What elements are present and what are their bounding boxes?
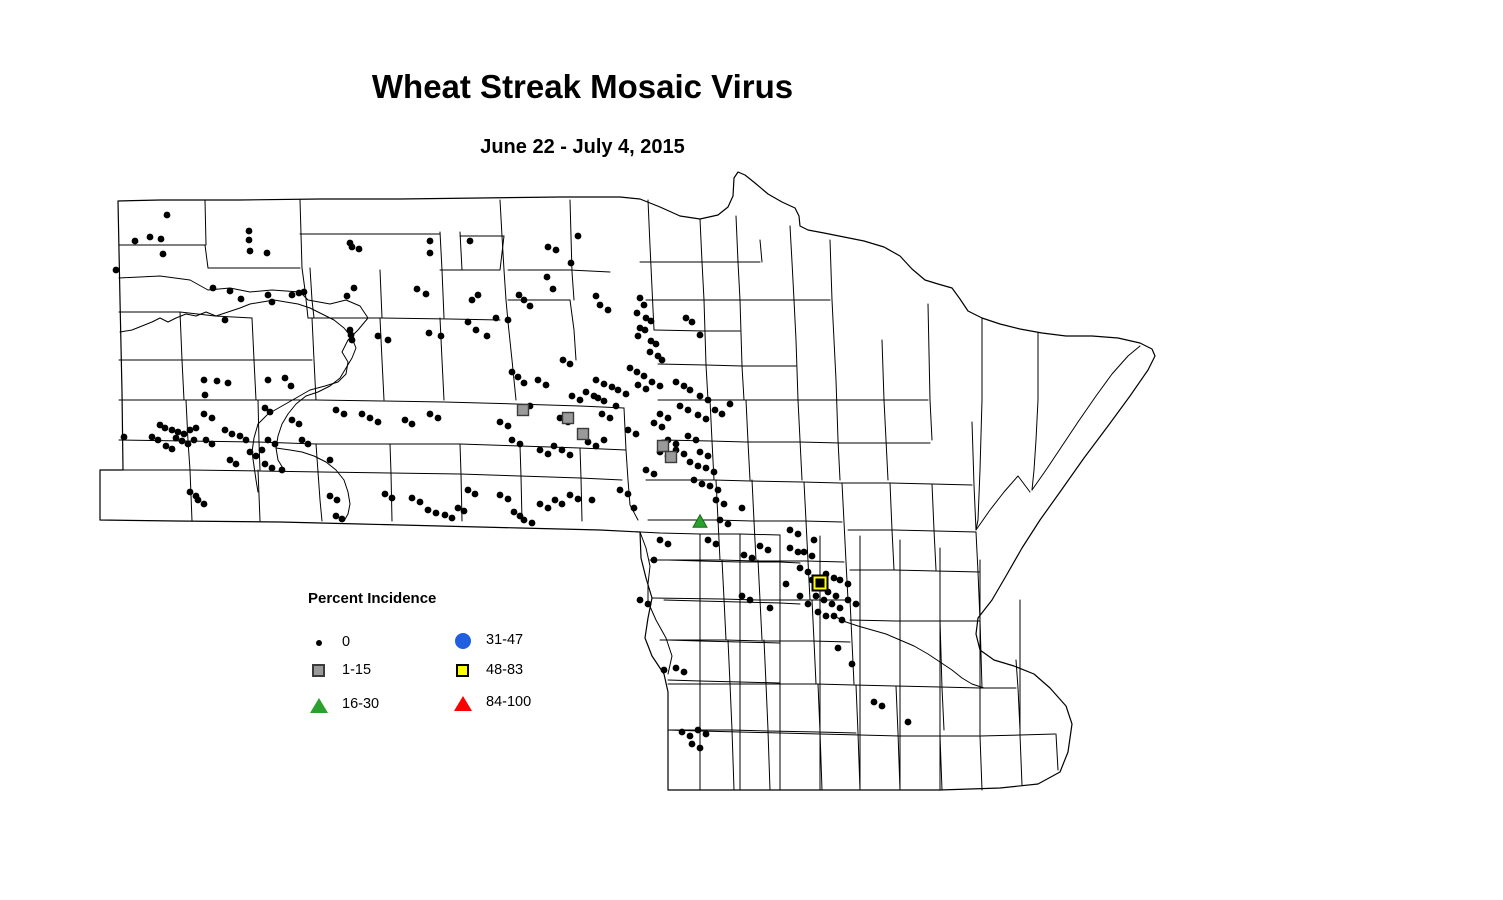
marker-zero <box>593 293 600 300</box>
marker-zero <box>715 487 722 494</box>
marker-zero <box>201 377 208 384</box>
marker-zero <box>757 543 764 550</box>
marker-zero <box>765 547 772 554</box>
marker-zero <box>375 333 382 340</box>
marker-1-15 <box>666 452 677 463</box>
marker-zero <box>472 491 479 498</box>
marker-zero <box>179 438 186 445</box>
legend-gray-square-icon <box>308 660 330 682</box>
marker-zero <box>657 383 664 390</box>
marker-zero <box>435 415 442 422</box>
marker-zero <box>815 609 822 616</box>
marker-zero <box>341 411 348 418</box>
legend-label-0: 0 <box>342 634 350 650</box>
marker-zero <box>265 377 272 384</box>
marker-zero <box>356 246 363 253</box>
marker-zero <box>583 389 590 396</box>
marker-zero <box>497 419 504 426</box>
marker-zero <box>511 509 518 516</box>
marker-zero <box>635 382 642 389</box>
marker-zero <box>591 393 598 400</box>
marker-zero <box>697 393 704 400</box>
marker-zero <box>647 349 654 356</box>
marker-zero <box>749 555 756 562</box>
marker-zero <box>209 441 216 448</box>
county-boundaries <box>100 172 1155 790</box>
marker-zero <box>659 357 666 364</box>
marker-1-15 <box>518 405 529 416</box>
marker-zero <box>253 453 260 460</box>
marker-zero <box>209 415 216 422</box>
marker-zero <box>552 497 559 504</box>
marker-zero <box>173 435 180 442</box>
marker-zero <box>871 699 878 706</box>
marker-zero <box>238 296 245 303</box>
marker-zero <box>269 299 276 306</box>
marker-zero <box>493 315 500 322</box>
marker-1-15 <box>563 413 574 424</box>
marker-zero <box>677 403 684 410</box>
marker-1-15 <box>578 429 589 440</box>
marker-zero <box>247 449 254 456</box>
marker-zero <box>359 411 366 418</box>
marker-zero <box>593 443 600 450</box>
marker-zero <box>265 292 272 299</box>
marker-zero <box>821 597 828 604</box>
marker-zero <box>577 397 584 404</box>
marker-zero <box>651 420 658 427</box>
marker-zero <box>227 457 234 464</box>
marker-zero <box>567 492 574 499</box>
marker-zero <box>633 431 640 438</box>
legend-label-2: 16-30 <box>342 696 379 712</box>
marker-zero <box>747 597 754 604</box>
marker-zero <box>657 411 664 418</box>
marker-zero <box>879 703 886 710</box>
marker-zero <box>465 319 472 326</box>
marker-zero <box>191 437 198 444</box>
marker-zero <box>537 501 544 508</box>
marker-zero <box>795 549 802 556</box>
marker-zero <box>327 457 334 464</box>
marker-zero <box>707 483 714 490</box>
marker-zero <box>537 447 544 454</box>
marker-zero <box>823 613 830 620</box>
marker-zero <box>505 317 512 324</box>
marker-zero <box>597 302 604 309</box>
marker-zero <box>164 212 171 219</box>
marker-zero <box>269 465 276 472</box>
marker-zero <box>767 605 774 612</box>
legend-label-4: 48-83 <box>486 662 523 678</box>
marker-zero <box>409 495 416 502</box>
marker-zero <box>567 452 574 459</box>
marker-zero <box>264 250 271 257</box>
marker-zero <box>853 601 860 608</box>
marker-zero <box>155 437 162 444</box>
marker-zero <box>653 341 660 348</box>
marker-zero <box>797 593 804 600</box>
marker-zero <box>575 233 582 240</box>
marker-zero <box>617 487 624 494</box>
marker-zero <box>553 247 560 254</box>
marker-zero <box>625 427 632 434</box>
marker-zero <box>797 565 804 572</box>
marker-zero <box>805 569 812 576</box>
marker-zero <box>739 505 746 512</box>
marker-zero <box>279 467 286 474</box>
marker-zero <box>327 493 334 500</box>
marker-zero <box>659 424 666 431</box>
marker-zero <box>550 286 557 293</box>
marker-zero <box>334 497 341 504</box>
marker-zero <box>589 497 596 504</box>
marker-zero <box>225 380 232 387</box>
marker-zero <box>685 407 692 414</box>
marker-zero <box>651 557 658 564</box>
marker-zero <box>551 443 558 450</box>
marker-zero <box>634 310 641 317</box>
marker-zero <box>385 337 392 344</box>
marker-zero <box>809 553 816 560</box>
marker-zero <box>262 461 269 468</box>
marker-zero <box>568 260 575 267</box>
marker-zero <box>461 508 468 515</box>
marker-zero <box>637 295 644 302</box>
marker-zero <box>705 397 712 404</box>
marker-zero <box>623 391 630 398</box>
legend-label-5: 84-100 <box>486 694 531 710</box>
marker-zero <box>703 416 710 423</box>
marker-zero <box>375 419 382 426</box>
marker-zero <box>665 541 672 548</box>
marker-zero <box>613 403 620 410</box>
legend-title: Percent Incidence <box>308 590 436 607</box>
marker-48-83-core <box>816 579 824 587</box>
marker-zero <box>727 401 734 408</box>
marker-zero <box>187 427 194 434</box>
marker-zero <box>497 492 504 499</box>
marker-zero <box>643 386 650 393</box>
marker-zero <box>517 441 524 448</box>
marker-zero <box>560 357 567 364</box>
marker-zero <box>725 521 732 528</box>
marker-zero <box>683 315 690 322</box>
marker-zero <box>465 487 472 494</box>
marker-zero <box>222 317 229 324</box>
marker-zero <box>301 289 308 296</box>
marker-zero <box>505 496 512 503</box>
marker-zero <box>545 451 552 458</box>
marker-zero <box>559 447 566 454</box>
marker-zero <box>535 377 542 384</box>
marker-zero <box>162 425 169 432</box>
marker-zero <box>635 333 642 340</box>
marker-zero <box>829 601 836 608</box>
marker-zero <box>839 617 846 624</box>
marker-zero <box>299 437 306 444</box>
marker-zero <box>288 383 295 390</box>
marker-zero <box>229 431 236 438</box>
marker-zero <box>705 453 712 460</box>
marker-zero <box>175 429 182 436</box>
marker-zero <box>601 381 608 388</box>
marker-zero <box>712 407 719 414</box>
marker-zero <box>845 581 852 588</box>
marker-16-30 <box>693 515 707 528</box>
marker-zero <box>697 449 704 456</box>
marker-zero <box>214 378 221 385</box>
marker-zero <box>685 433 692 440</box>
marker-zero <box>703 731 710 738</box>
marker-zero <box>837 577 844 584</box>
marker-zero <box>267 409 274 416</box>
marker-zero <box>509 369 516 376</box>
marker-zero <box>643 467 650 474</box>
marker-zero <box>265 437 272 444</box>
marker-zero <box>427 411 434 418</box>
marker-zero <box>505 423 512 430</box>
marker-zero <box>282 375 289 382</box>
marker-zero <box>713 541 720 548</box>
marker-zero <box>693 437 700 444</box>
map-page: Wheat Streak Mosaic Virus June 22 - July… <box>0 0 1503 900</box>
marker-zero <box>695 463 702 470</box>
marker-zero <box>147 234 154 241</box>
legend-dot-icon <box>308 632 330 654</box>
marker-zero <box>831 575 838 582</box>
marker-zero <box>609 384 616 391</box>
marker-zero <box>201 501 208 508</box>
marker-zero <box>849 661 856 668</box>
legend-label-3: 31-47 <box>486 632 523 648</box>
marker-zero <box>163 443 170 450</box>
marker-zero <box>835 645 842 652</box>
marker-zero <box>811 537 818 544</box>
marker-zero <box>272 441 279 448</box>
marker-zero <box>169 446 176 453</box>
marker-zero <box>349 337 356 344</box>
marker-zero <box>687 459 694 466</box>
marker-zero <box>339 516 346 523</box>
marker-zero <box>333 513 340 520</box>
marker-zero <box>689 319 696 326</box>
marker-zero <box>637 597 644 604</box>
marker-zero <box>681 669 688 676</box>
marker-zero <box>599 411 606 418</box>
marker-zero <box>305 441 312 448</box>
marker-zero <box>233 461 240 468</box>
marker-zero <box>243 437 250 444</box>
marker-zero <box>484 333 491 340</box>
legend-green-triangle-icon <box>308 694 330 716</box>
marker-zero <box>813 593 820 600</box>
marker-zero <box>347 327 354 334</box>
marker-zero <box>673 441 680 448</box>
marker-zero <box>185 441 192 448</box>
marker-zero <box>521 297 528 304</box>
marker-zero <box>605 307 612 314</box>
marker-zero <box>787 527 794 534</box>
marker-zero <box>801 549 808 556</box>
marker-zero <box>351 285 358 292</box>
marker-zero <box>409 421 416 428</box>
marker-zero <box>711 469 718 476</box>
marker-zero <box>699 481 706 488</box>
marker-zero <box>475 292 482 299</box>
marker-zero <box>845 597 852 604</box>
marker-zero <box>203 437 210 444</box>
legend: Percent Incidence 0 1-15 16-30 31-47 48-… <box>308 590 548 720</box>
marker-zero <box>575 496 582 503</box>
marker-zero <box>193 425 200 432</box>
marker-zero <box>627 365 634 372</box>
marker-zero <box>601 398 608 405</box>
marker-zero <box>333 407 340 414</box>
legend-yellow-square-icon <box>452 660 474 682</box>
marker-zero <box>705 537 712 544</box>
marker-zero <box>132 238 139 245</box>
marker-1-15 <box>658 441 669 452</box>
marker-zero <box>121 434 128 441</box>
marker-zero <box>289 292 296 299</box>
marker-zero <box>697 332 704 339</box>
marker-zero <box>805 601 812 608</box>
marker-zero <box>593 377 600 384</box>
marker-zero <box>509 437 516 444</box>
marker-zero <box>247 248 254 255</box>
marker-zero <box>783 581 790 588</box>
marker-zero <box>642 327 649 334</box>
marker-zero <box>741 552 748 559</box>
marker-zero <box>227 288 234 295</box>
marker-zero <box>259 447 266 454</box>
marker-zero <box>349 244 356 251</box>
marker-zero <box>210 285 217 292</box>
marker-zero <box>673 379 680 386</box>
marker-zero <box>158 236 165 243</box>
marker-zero <box>695 727 702 734</box>
marker-zero <box>195 497 202 504</box>
legend-label-1: 1-15 <box>342 662 371 678</box>
marker-zero <box>201 411 208 418</box>
marker-zero <box>427 238 434 245</box>
marker-zero <box>527 303 534 310</box>
marker-zero <box>521 380 528 387</box>
marker-zero <box>657 537 664 544</box>
marker-zero <box>426 330 433 337</box>
marker-zero <box>423 291 430 298</box>
marker-zero <box>679 729 686 736</box>
marker-zero <box>344 293 351 300</box>
marker-zero <box>427 250 434 257</box>
marker-zero <box>681 383 688 390</box>
marker-zero <box>721 501 728 508</box>
marker-zero <box>296 421 303 428</box>
marker-zero <box>246 228 253 235</box>
data-points-48-83 <box>813 576 828 591</box>
marker-zero <box>795 531 802 538</box>
marker-zero <box>648 318 655 325</box>
marker-zero <box>695 412 702 419</box>
marker-zero <box>367 415 374 422</box>
marker-zero <box>641 302 648 309</box>
marker-zero <box>634 369 641 376</box>
marker-zero <box>543 382 550 389</box>
marker-zero <box>516 292 523 299</box>
marker-zero <box>187 489 194 496</box>
legend-red-triangle-icon <box>452 692 474 714</box>
marker-zero <box>601 437 608 444</box>
marker-zero <box>559 501 566 508</box>
marker-zero <box>787 545 794 552</box>
marker-zero <box>469 297 476 304</box>
marker-zero <box>382 491 389 498</box>
marker-zero <box>567 361 574 368</box>
marker-zero <box>160 251 167 258</box>
marker-zero <box>169 427 176 434</box>
legend-blue-circle-icon <box>452 630 474 652</box>
marker-zero <box>649 379 656 386</box>
marker-zero <box>521 517 528 524</box>
marker-zero <box>545 244 552 251</box>
marker-zero <box>389 495 396 502</box>
marker-zero <box>149 434 156 441</box>
marker-zero <box>529 520 536 527</box>
marker-zero <box>467 238 474 245</box>
marker-zero <box>289 417 296 424</box>
marker-zero <box>515 374 522 381</box>
marker-zero <box>905 719 912 726</box>
marker-zero <box>833 593 840 600</box>
marker-zero <box>673 665 680 672</box>
marker-zero <box>689 741 696 748</box>
marker-zero <box>442 512 449 519</box>
marker-zero <box>651 471 658 478</box>
marker-zero <box>687 387 694 394</box>
marker-zero <box>687 733 694 740</box>
marker-zero <box>703 465 710 472</box>
marker-zero <box>681 451 688 458</box>
marker-zero <box>425 507 432 514</box>
map-canvas <box>0 0 1503 900</box>
marker-zero <box>641 373 648 380</box>
marker-zero <box>433 510 440 517</box>
marker-zero <box>545 505 552 512</box>
marker-zero <box>544 274 551 281</box>
marker-zero <box>449 515 456 522</box>
marker-zero <box>625 491 632 498</box>
marker-zero <box>438 333 445 340</box>
marker-zero <box>665 415 672 422</box>
marker-zero <box>202 392 209 399</box>
marker-zero <box>417 499 424 506</box>
marker-zero <box>837 605 844 612</box>
marker-zero <box>455 505 462 512</box>
marker-zero <box>402 417 409 424</box>
marker-zero <box>615 387 622 394</box>
marker-zero <box>645 601 652 608</box>
marker-zero <box>719 411 726 418</box>
marker-zero <box>697 745 704 752</box>
marker-zero <box>237 433 244 440</box>
marker-zero <box>246 237 253 244</box>
marker-zero <box>414 286 421 293</box>
marker-zero <box>739 593 746 600</box>
marker-zero <box>661 667 668 674</box>
marker-zero <box>691 477 698 484</box>
marker-zero <box>831 613 838 620</box>
